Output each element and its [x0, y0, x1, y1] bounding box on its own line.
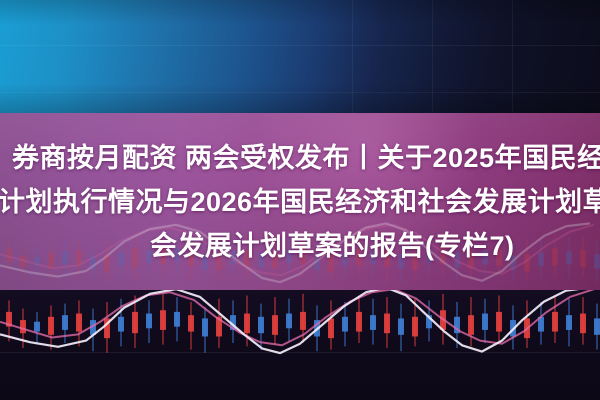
top-panel-vignette: [0, 0, 600, 113]
candlestick-chart: [0, 290, 600, 400]
headline-band: [0, 113, 600, 290]
stock-chart-area: [0, 290, 600, 400]
top-gradient-panel: [0, 0, 600, 113]
chart-axis-line: [0, 352, 600, 353]
band-shade: [0, 113, 600, 290]
banner-image: 券商按月配资 两会受权发布丨关于2025年国民经 计划执行情况与2026年国民经…: [0, 0, 600, 400]
